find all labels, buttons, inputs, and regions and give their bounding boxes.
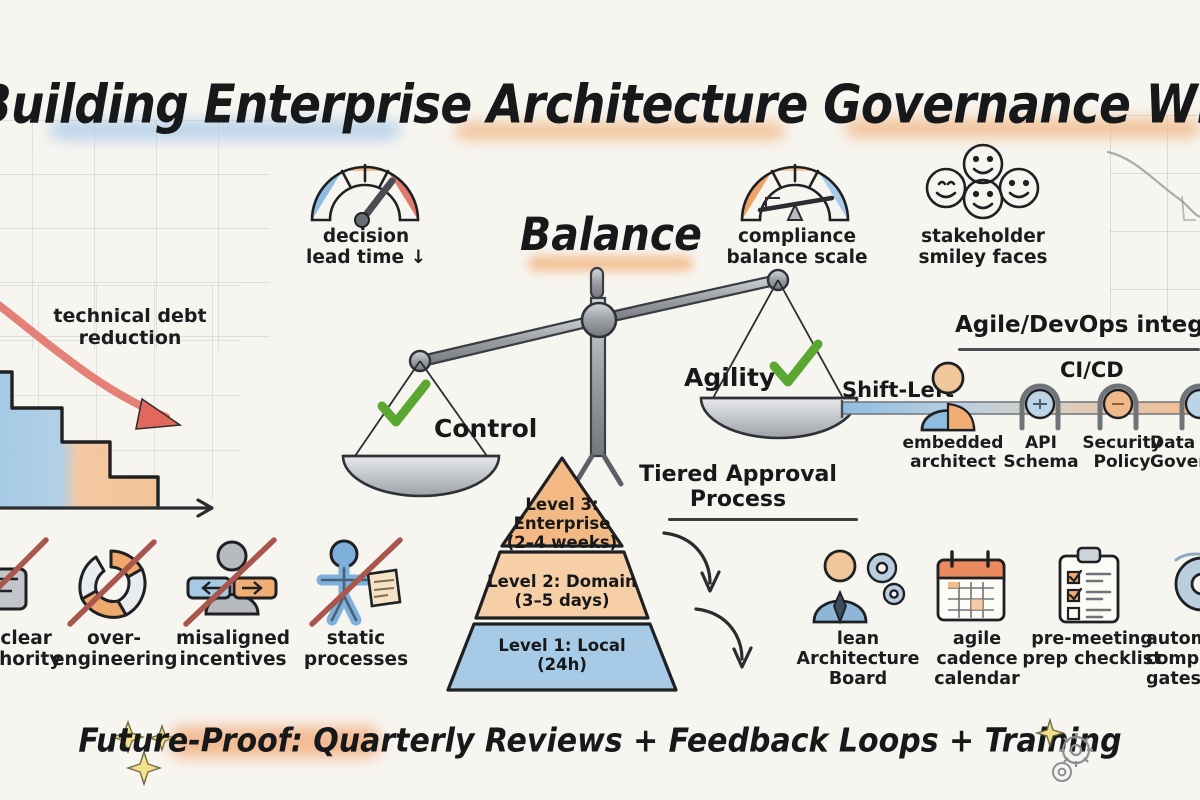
unclear-authority-strike-icon [0,536,52,622]
balance-heading: Balance [520,208,700,261]
level1-line2: (24h) [537,655,587,674]
compliance-gauge-icon [732,148,858,228]
antipattern-3-line1: misaligned [176,628,290,649]
practice-1-line3: Board [829,669,887,689]
level3-line2: Enterprise [514,514,611,533]
gate-3-line2: Policy [1094,452,1151,472]
pyramid-level-2-label: Level 2: Domain (3–5 days) [462,572,662,610]
person-icon [916,362,980,432]
page-title: Building Enterprise Architecture Governa… [0,74,1200,136]
gate-2-line1: API [1025,433,1057,453]
practice-3-line1: pre-meeting [1031,629,1153,649]
agility-check-icon [768,338,824,394]
practice-3-line2: prep checklist [1022,649,1161,669]
practice-4-line1: automated [1146,629,1200,649]
tiered-line2: Process [690,487,786,512]
level3-line3: (2–4 weeks) [507,533,617,552]
practice-4-line2: compliance [1146,649,1200,669]
level3-line1: Level 3: [525,495,598,514]
gate-1-line1: embedded [903,433,1004,453]
stakeholder-line2: smiley faces [918,247,1047,268]
practice-3-caption: pre-meeting prep checklist [1022,630,1162,670]
practice-2-caption: agile cadence calendar [922,630,1032,690]
gear-icon [1036,716,1106,784]
technical-debt-caption: technical debt reduction [40,305,220,349]
control-pan-label: Control [434,414,537,443]
level1-line1: Level 1: Local [498,636,625,655]
antipattern-2-line2: engineering [52,649,177,670]
compliance-line1: compliance [738,226,856,247]
gate-icon [1172,378,1200,434]
pyramid-level-3-label: Level 3: Enterprise (2–4 weeks) [492,495,632,552]
control-check-icon [376,378,432,434]
technical-debt-line1: technical debt [53,305,206,327]
pyramid-level-1-label: Level 1: Local (24h) [450,636,674,674]
automated-gates-icon [1160,548,1200,626]
devops-gate-4-caption: Data Governance [1150,434,1200,473]
level2-line2: (3–5 days) [514,591,609,610]
infographic-canvas: Building Enterprise Architecture Governa… [0,0,1200,800]
gate-4-line1: Data [1150,433,1195,453]
agility-pan-label: Agility [684,363,775,392]
gauge-icon [302,148,428,228]
faint-decline-line-chart [1100,120,1200,300]
static-processes-strike-icon [304,534,408,632]
stakeholder-caption: stakeholder smiley faces [908,226,1058,268]
practice-2-line3: calendar [934,669,1019,689]
antipattern-4-caption: static processes [294,628,418,670]
clipboard-checklist-icon [1054,546,1124,626]
smiley-faces-icon [918,142,1048,228]
lead-time-line1: decision [323,226,409,247]
antipattern-2-line1: over- [87,628,141,649]
antipattern-4-line2: processes [304,649,408,670]
title-block: Building Enterprise Architecture Governa… [0,38,1200,110]
antipattern-3-caption: misaligned incentives [168,628,298,670]
practice-1-line1: lean [837,629,879,649]
level2-line1: Level 2: Domain [487,572,637,591]
footer-banner: Future-Proof: Quarterly Reviews + Feedba… [0,722,1200,761]
antipattern-4-line1: static [327,628,386,649]
misaligned-incentives-strike-icon [178,534,282,632]
stakeholder-line1: stakeholder [921,226,1045,247]
lean-architecture-board-icon [806,548,906,626]
agile-devops-heading: Agile/DevOps integration [955,312,1200,338]
tiered-line1: Tiered Approval [639,462,837,487]
antipattern-3-line2: incentives [180,649,287,670]
gate-icon [1090,378,1146,434]
practice-1-line2: Architecture [797,649,920,669]
agile-devops-underline [958,348,1200,351]
gate-4-line2: Governance [1150,452,1200,472]
devops-gate-1-caption: embedded architect [898,434,1008,473]
pyramid-flow-arrows [658,525,778,685]
over-engineering-strike-icon [62,536,162,632]
gate-icon [1012,378,1068,434]
practice-2-line2: cadence [936,649,1017,669]
tiered-approval-heading: Tiered Approval Process [638,462,838,513]
gate-1-line2: architect [910,452,996,472]
technical-debt-line2: reduction [79,327,182,349]
practice-2-line1: agile [953,629,1001,649]
practice-4-caption: automated compliance gates [1146,630,1200,690]
antipattern-2-caption: over- engineering [52,628,176,670]
tiered-approval-underline [668,518,858,521]
gate-2-line2: Schema [1003,452,1078,472]
antipattern-1-line1: unclear [0,628,52,649]
practice-1-caption: lean Architecture Board [788,630,928,690]
calendar-icon [932,548,1010,626]
practice-4-line3: gates [1146,669,1200,689]
